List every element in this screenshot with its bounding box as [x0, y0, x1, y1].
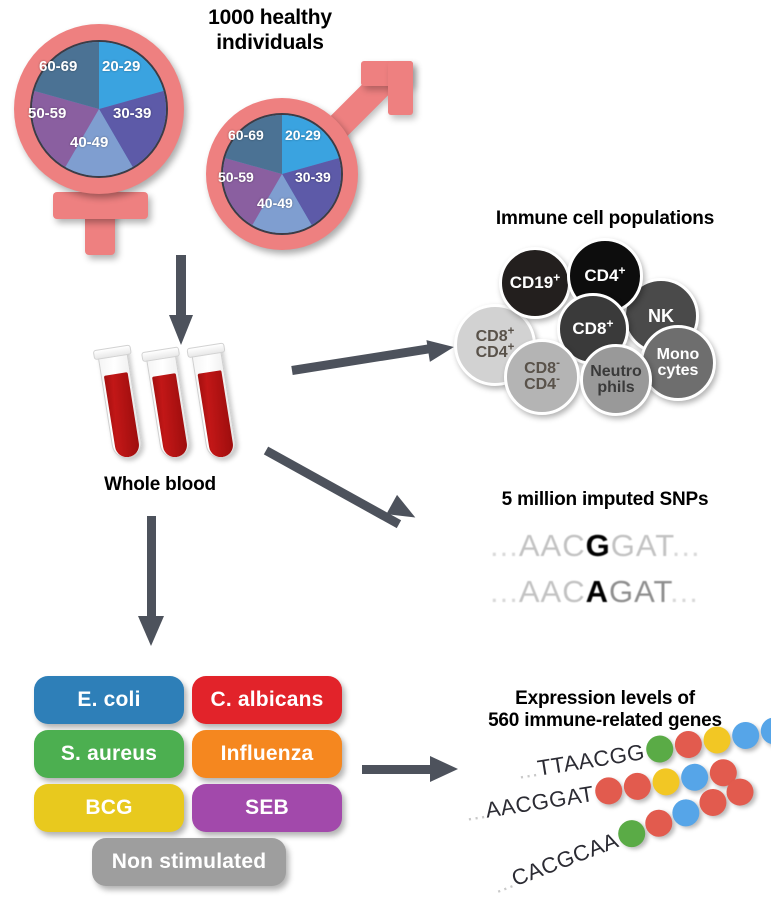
arrow-shaft [176, 255, 186, 323]
arrow-shaft [362, 765, 434, 774]
page-title-immune: Immune cell populations [440, 208, 770, 230]
stimulation-button-bcg[interactable]: BCG [34, 784, 184, 832]
blood-tube [191, 345, 238, 460]
cell-label: CD8 [572, 319, 606, 338]
pie-label-30-39: 30-39 [113, 105, 151, 122]
arrow-head [138, 616, 164, 646]
cell-label-sup: + [606, 317, 613, 331]
female-symbol: 60-69 20-29 50-59 30-39 40-49 [6, 12, 196, 252]
male-symbol: 60-69 20-29 50-59 30-39 40-49 [196, 52, 426, 252]
pie-label-40-49: 40-49 [257, 195, 293, 211]
bead [594, 775, 625, 806]
cell-cd19-positive: CD19+ [499, 247, 571, 319]
cell-label-line2: CD4 [476, 344, 508, 361]
cell-label: CD4 [584, 266, 618, 285]
snp-variant-base: A [586, 574, 609, 609]
snp-sequence-row: ...AACAGAT... [490, 574, 699, 610]
label-whole-blood: Whole blood [60, 474, 260, 496]
cell-label-line2-sup: - [556, 374, 560, 386]
cell-label-sup: + [618, 264, 625, 278]
dna-sequence: ...AACGGAT [464, 780, 596, 826]
cell-label-line1: Mono [657, 346, 700, 363]
pie-label-60-69: 60-69 [228, 127, 264, 143]
snp-left-bases: AAC [519, 528, 586, 563]
dna-sequence-bases: CACGCAA [508, 827, 622, 891]
arrow-cohort-to-blood [168, 255, 194, 347]
cell-label: NK [648, 307, 674, 325]
stimulation-button-influenza[interactable]: Influenza [192, 730, 342, 778]
expression-title-line1: Expression levels of [440, 688, 770, 710]
arrow-blood-to-stimulations [138, 516, 168, 646]
stimulation-label: Non stimulated [112, 850, 266, 874]
bead [673, 729, 704, 760]
male-arrow-barb-vertical [388, 61, 413, 115]
cell-neutrophils: Neutro phils [580, 344, 652, 416]
bead [644, 734, 675, 765]
stimulation-label: BCG [85, 796, 132, 820]
blood-tubes-group [108, 338, 268, 466]
cell-cd8cd4-double-negative: CD8- CD4- [504, 339, 580, 415]
immune-cell-cluster: CD8+ CD4+ NK CD19+ CD4+ CD8+ Mono c [440, 238, 771, 418]
snp-suffix-dots: ... [672, 528, 701, 563]
tube-blood [198, 370, 235, 458]
stimulation-button-non-stimulated[interactable]: Non stimulated [92, 838, 286, 886]
snp-prefix-dots: ... [490, 574, 519, 609]
stimulation-label: C. albicans [210, 688, 323, 712]
female-stem-cross [53, 192, 148, 219]
page-title-snps: 5 million imputed SNPs [440, 489, 770, 511]
bead [702, 725, 733, 756]
pie-label-40-49: 40-49 [70, 134, 108, 151]
tube-glass [145, 349, 192, 460]
pie-label-50-59: 50-59 [218, 169, 254, 185]
bead [651, 766, 682, 797]
cell-label-line1: CD8 [476, 328, 508, 345]
snp-variant-base: G [586, 528, 611, 563]
pie-label-50-59: 50-59 [28, 105, 66, 122]
tube-glass [191, 345, 238, 460]
expression-strand-group: ...TTAACGG ...AACGGAT ...CACGCAA [466, 748, 771, 913]
tube-glass [97, 347, 144, 460]
snp-prefix-dots: ... [490, 528, 519, 563]
stimulation-label: SEB [245, 796, 289, 820]
cell-label-line1: CD8 [524, 360, 556, 377]
cell-label-sup: + [553, 271, 560, 285]
dna-sequence-bases: AACGGAT [484, 780, 596, 822]
snp-left-bases: AAC [519, 574, 586, 609]
cell-label: CD19 [510, 273, 553, 292]
snp-sequence-row: ...AACGGAT... [490, 528, 701, 564]
stimulation-label: Influenza [221, 742, 314, 766]
pie-label-60-69: 60-69 [39, 58, 77, 75]
pie-label-20-29: 20-29 [102, 58, 140, 75]
stimulation-button-s-aureus[interactable]: S. aureus [34, 730, 184, 778]
figure-canvas: 1000 healthy individuals 60-69 20-29 50-… [0, 0, 771, 922]
cell-label-line1-sup: - [556, 357, 560, 369]
cell-label-line2: phils [597, 379, 634, 396]
snp-sequence-group: ...AACGGAT... ...AACAGAT... [490, 528, 750, 620]
stimulation-button-seb[interactable]: SEB [192, 784, 342, 832]
cell-label-line1: Neutro [590, 363, 642, 380]
cell-label-line2: CD4 [524, 376, 556, 393]
bead [622, 771, 653, 802]
pie-label-20-29: 20-29 [285, 127, 321, 143]
arrow-blood-to-snps [266, 438, 466, 548]
arrow-shaft [291, 344, 433, 375]
stimulation-button-c-albicans[interactable]: C. albicans [192, 676, 342, 724]
snp-right-bases: GAT [609, 574, 670, 609]
arrow-shaft [264, 447, 401, 529]
arrow-stimulations-to-expression [362, 756, 472, 788]
stimulation-panel: E. coli C. albicans S. aureus Influenza … [34, 676, 344, 896]
bead [759, 715, 771, 746]
dna-sequence: ...CACGCAA [489, 827, 622, 899]
stimulation-label: E. coli [77, 688, 140, 712]
bead [679, 762, 710, 793]
snp-suffix-dots: ... [670, 574, 699, 609]
arrow-shaft [147, 516, 156, 624]
stimulation-label: S. aureus [61, 742, 157, 766]
blood-tube [97, 347, 144, 460]
snp-right-bases: GAT [611, 528, 672, 563]
tube-blood [152, 373, 189, 458]
cell-label-line2: cytes [658, 362, 699, 379]
arrow-head [430, 756, 458, 782]
cell-monocytes: Mono cytes [640, 325, 716, 401]
pie-label-30-39: 30-39 [295, 169, 331, 185]
bead [730, 720, 761, 751]
cell-label-line1-sup: + [508, 325, 515, 337]
blood-tube [145, 349, 192, 460]
tube-blood [104, 372, 141, 459]
stimulation-button-e-coli[interactable]: E. coli [34, 676, 184, 724]
